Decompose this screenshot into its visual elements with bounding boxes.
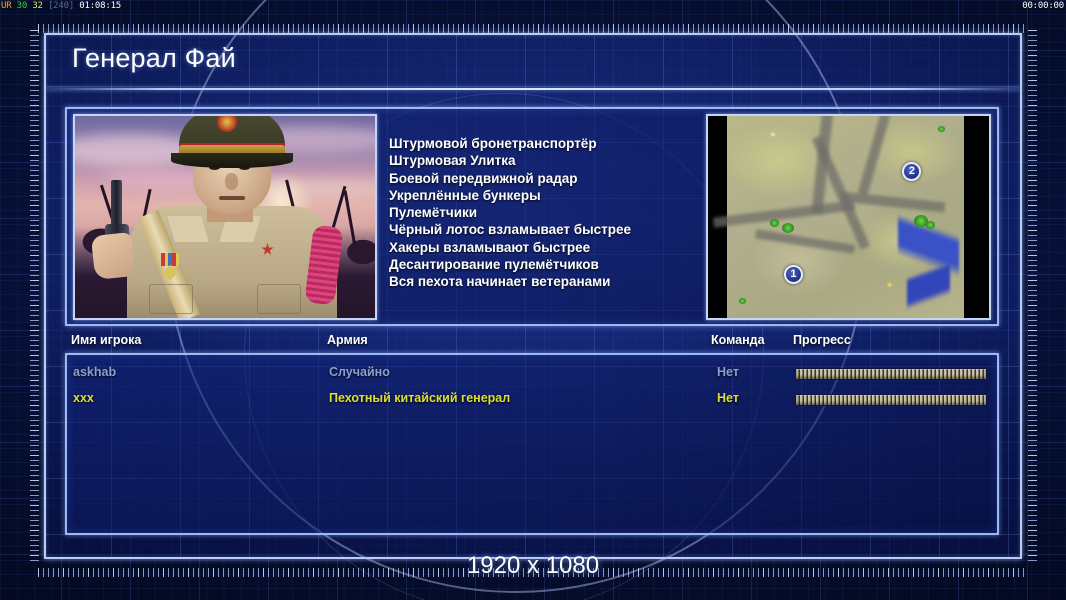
- map-river: [907, 249, 950, 320]
- resolution-label: 1920 x 1080: [0, 552, 1066, 580]
- player-progress-bar: [795, 394, 987, 406]
- ability-item: Штурмовой бронетранспортёр: [389, 135, 679, 152]
- top-status-bar: UR 30 32 [240] 01:08:15 00:00:00: [0, 0, 1066, 13]
- perf-ur-label: UR: [1, 1, 11, 11]
- ruler-left: [30, 30, 39, 565]
- column-header-army: Армия: [327, 333, 368, 347]
- ruler-right: [1028, 30, 1037, 565]
- player-team-cell: Нет: [717, 365, 739, 379]
- general-detail-panel: Штурмовой бронетранспортёрШтурмовая Улит…: [65, 107, 999, 326]
- map-terrain: 12: [727, 116, 964, 318]
- general-portrait: [73, 114, 377, 320]
- perf-bracket-value: [240]: [48, 1, 74, 11]
- portrait-pocket: [149, 284, 193, 314]
- table-row[interactable]: askhabСлучайноНет: [67, 361, 997, 387]
- perf-alt-value: 32: [32, 1, 42, 11]
- app-root: UR 30 32 [240] 01:08:15 00:00:00 Генерал…: [0, 0, 1066, 600]
- titlebar-divider: [46, 88, 1020, 90]
- column-header-name: Имя игрока: [71, 333, 141, 347]
- ability-item: Укреплённые бункеры: [389, 187, 679, 204]
- session-clock: 00:00:00: [1022, 0, 1064, 13]
- portrait-mouth: [219, 196, 245, 200]
- portrait-collar-left: [167, 216, 208, 242]
- map-road: [755, 229, 855, 253]
- ability-item: Чёрный лотос взламывает быстрее: [389, 221, 679, 238]
- player-name-cell: xxx: [73, 391, 94, 405]
- ability-item: Десантирование пулемётчиков: [389, 256, 679, 273]
- column-header-progress: Прогресс: [793, 333, 851, 347]
- performance-readout: UR 30 32 [240] 01:08:15: [1, 0, 121, 13]
- perf-fps-value: 30: [17, 1, 27, 11]
- column-header-team: Команда: [711, 333, 765, 347]
- map-start-position-2[interactable]: 2: [902, 162, 921, 181]
- ability-item: Вся пехота начинает ветеранами: [389, 273, 679, 290]
- portrait-cap-brim: [171, 153, 293, 168]
- players-list-panel: askhabСлучайноНетxxxПехотный китайский г…: [65, 353, 999, 535]
- map-tree-cluster: [770, 219, 779, 227]
- player-name-cell: askhab: [73, 365, 116, 379]
- map-preview[interactable]: 12: [706, 114, 991, 320]
- ability-item: Пулемётчики: [389, 204, 679, 221]
- map-start-position-1[interactable]: 1: [784, 265, 803, 284]
- map-tree-cluster: [739, 298, 746, 304]
- general-ability-list: Штурмовой бронетранспортёрШтурмовая Улит…: [389, 135, 679, 291]
- player-progress-bar: [795, 368, 987, 380]
- portrait-hand: [91, 232, 135, 280]
- ability-item: Хакеры взламывают быстрее: [389, 239, 679, 256]
- portrait-pocket: [257, 284, 301, 314]
- player-army-cell: Пехотный китайский генерал: [329, 391, 510, 405]
- general-info-window: Генерал Фай: [44, 33, 1022, 559]
- map-resource: [770, 132, 776, 137]
- ability-item: Боевой передвижной радар: [389, 170, 679, 187]
- player-team-cell: Нет: [717, 391, 739, 405]
- perf-elapsed-time: 01:08:15: [79, 1, 121, 11]
- map-tree-cluster: [782, 223, 794, 233]
- page-title: Генерал Фай: [72, 43, 236, 74]
- window-titlebar: Генерал Фай: [46, 35, 1020, 90]
- ability-item: Штурмовая Улитка: [389, 152, 679, 169]
- table-row[interactable]: xxxПехотный китайский генералНет: [67, 387, 997, 413]
- map-road: [858, 114, 891, 197]
- map-resource: [886, 282, 893, 288]
- players-table-header: Имя игрока Армия Команда Прогресс: [65, 333, 999, 353]
- map-tree-cluster: [938, 126, 945, 132]
- portrait-nose: [225, 173, 238, 190]
- player-army-cell: Случайно: [329, 365, 390, 379]
